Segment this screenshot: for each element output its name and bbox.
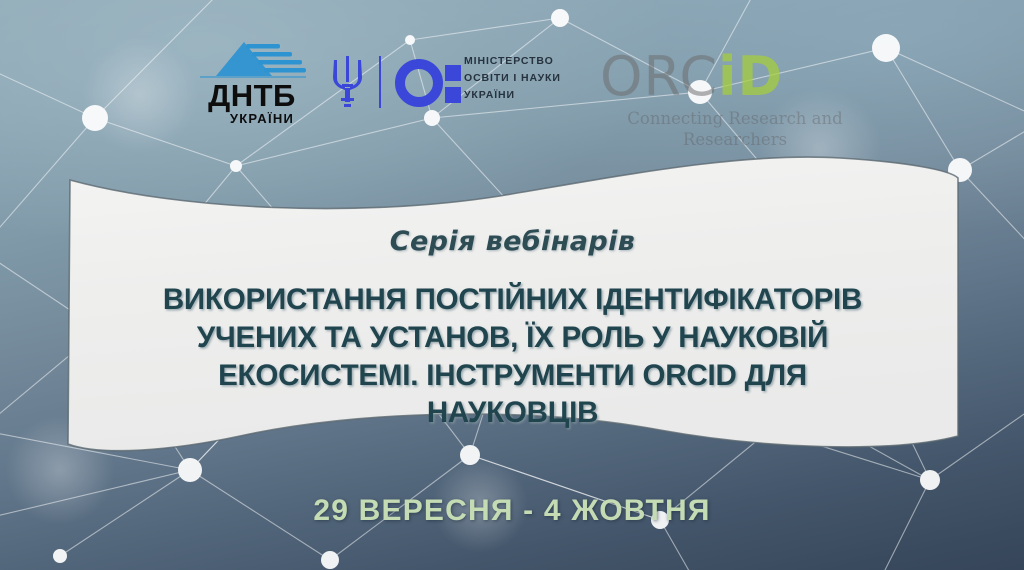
ministry-line-1: МІНІСТЕРСТВО [464,53,561,70]
ministry-line-2: ОСВІТИ І НАУКИ [464,70,561,87]
orcid-logo: ORCiD Connecting Research and Researcher… [600,50,900,155]
ministry-text-block: МІНІСТЕРСТВО ОСВІТИ І НАУКИ УКРАЇНИ [464,53,561,104]
ministry-line-3: УКРАЇНИ [464,87,561,104]
orcid-wordmark: ORCiD [600,50,900,104]
orcid-word-suffix: iD [718,45,783,108]
orcid-tagline: Connecting Research and Researchers [600,108,870,150]
o-colon-mark [400,64,461,103]
card-surface [60,148,965,468]
dntb-acronym: ДНТБ [208,78,296,113]
event-date-range: 29 ВЕРЕСНЯ - 4 ЖОВТНЯ [0,494,1024,528]
trident-icon [333,56,362,107]
divider [379,56,381,108]
logo-row: ДНТБ УКРАЇНИ [0,0,1024,150]
content-card [60,148,965,468]
ministry-of-education-logo: МІНІСТЕРСТВО ОСВІТИ І НАУКИ УКРАЇНИ [332,52,577,114]
webinar-announcement-poster: ДНТБ УКРАЇНИ [0,0,1024,570]
orcid-word-prefix: ORC [600,45,718,108]
dntb-logo: ДНТБ УКРАЇНИ [180,36,325,128]
svg-text:УКРАЇНИ: УКРАЇНИ [230,111,294,126]
